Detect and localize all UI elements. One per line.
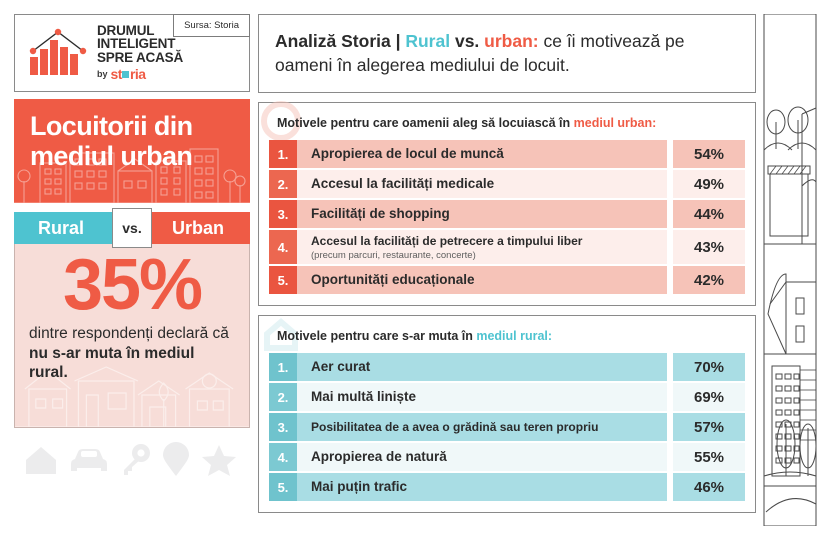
row-label-cell: Accesul la facilități medicale <box>297 170 667 198</box>
stat-value: 35% <box>15 244 249 322</box>
header-part1: Analiză Storia | <box>275 31 405 51</box>
row-percent: 42% <box>673 266 745 294</box>
row-percent: 70% <box>673 353 745 381</box>
row-label-cell: Oportunități educaționale <box>297 266 667 294</box>
row-label: Accesul la facilități de petrecere a tim… <box>311 233 657 249</box>
compare-tabs: Rural Urban vs. <box>14 212 250 244</box>
row-number: 3. <box>269 200 297 228</box>
row-number: 3. <box>269 413 297 441</box>
row-percent: 55% <box>673 443 745 471</box>
logo-line-2: INTELIGENT <box>97 37 183 50</box>
row-percent: 57% <box>673 413 745 441</box>
row-number: 4. <box>269 443 297 471</box>
logo-by-label: by <box>97 69 108 79</box>
table-row[interactable]: 4. Accesul la facilități de petrecere a … <box>269 230 745 264</box>
main-column: Analiză Storia | Rural vs. urban: ce îi … <box>258 14 756 513</box>
table-row[interactable]: 5. Mai puțin trafic 46% <box>269 473 745 501</box>
rural-heading-plain: Motivele pentru care s-ar muta în <box>277 329 476 343</box>
header-urban: urban: <box>484 31 538 51</box>
row-label-cell: Mai multă liniște <box>297 383 667 411</box>
urban-section-heading: Motivele pentru care oamenii aleg să loc… <box>269 114 745 140</box>
row-label-cell: Apropierea de locul de muncă <box>297 140 667 168</box>
row-number: 1. <box>269 353 297 381</box>
urban-heading-accent: mediul urban: <box>574 116 657 130</box>
rural-reasons-panel: Motivele pentru care s-ar muta în mediul… <box>258 315 756 513</box>
row-label: Posibilitatea de a avea o grădină sau te… <box>311 419 657 435</box>
star-icon <box>200 442 238 478</box>
rural-rows: 1. Aer curat 70% 2. Mai multă liniște 69… <box>269 353 745 501</box>
table-row[interactable]: 5. Oportunități educaționale 42% <box>269 266 745 294</box>
row-label-cell: Aer curat <box>297 353 667 381</box>
row-sublabel: (precum parcuri, restaurante, concerte) <box>311 250 657 262</box>
row-label-cell: Apropierea de natură <box>297 443 667 471</box>
table-row[interactable]: 1. Aer curat 70% <box>269 353 745 381</box>
table-row[interactable]: 1. Apropierea de locul de muncă 54% <box>269 140 745 168</box>
row-number: 2. <box>269 170 297 198</box>
row-label-cell: Mai puțin trafic <box>297 473 667 501</box>
header-panel: Analiză Storia | Rural vs. urban: ce îi … <box>258 14 756 93</box>
logo-line-3: SPRE ACASĂ <box>97 51 183 64</box>
header-text: Analiză Storia | Rural vs. urban: ce îi … <box>275 29 739 77</box>
source-badge: Sursa: Storia <box>173 14 250 37</box>
car-icon <box>67 442 111 478</box>
urban-rows: 1. Apropierea de locul de muncă 54% 2. A… <box>269 140 745 294</box>
row-label: Mai multă liniște <box>311 389 657 405</box>
row-percent: 69% <box>673 383 745 411</box>
row-number: 4. <box>269 230 297 264</box>
pin-icon <box>159 442 193 478</box>
logo-box: DRUMUL INTELIGENT SPRE ACASĂ by stria Su… <box>14 14 250 92</box>
row-label-cell: Facilități de shopping <box>297 200 667 228</box>
key-icon <box>118 442 152 478</box>
table-row[interactable]: 3. Posibilitatea de a avea o grădină sau… <box>269 413 745 441</box>
house-icon <box>22 442 60 478</box>
rural-section-heading: Motivele pentru care s-ar muta în mediul… <box>269 327 745 353</box>
row-label-cell: Accesul la facilități de petrecere a tim… <box>297 230 667 264</box>
row-percent: 46% <box>673 473 745 501</box>
table-row[interactable]: 3. Facilități de shopping 44% <box>269 200 745 228</box>
logo-byline: by stria <box>97 66 183 82</box>
row-label: Apropierea de locul de muncă <box>311 146 657 162</box>
urban-title-banner: Locuitorii din mediul urban <box>14 99 250 203</box>
header-mid: vs. <box>450 31 484 51</box>
stat-description: dintre respondenți declară că nu s-ar mu… <box>15 322 249 383</box>
stat-line-2-bold: nu s-ar <box>29 345 81 362</box>
row-percent: 43% <box>673 230 745 264</box>
row-number: 2. <box>269 383 297 411</box>
header-rural: Rural <box>405 31 450 51</box>
infographic-page: DRUMUL INTELIGENT SPRE ACASĂ by stria Su… <box>0 0 831 540</box>
feature-icon-row <box>14 428 250 478</box>
stat-highlight-box: 35% dintre respondenți declară că nu s-a… <box>14 244 250 428</box>
row-percent: 54% <box>673 140 745 168</box>
row-label: Facilități de shopping <box>311 206 657 222</box>
row-number: 5. <box>269 473 297 501</box>
storia-square-icon <box>122 71 129 78</box>
row-number: 1. <box>269 140 297 168</box>
rural-heading-accent: mediul rural: <box>476 329 552 343</box>
left-column: DRUMUL INTELIGENT SPRE ACASĂ by stria Su… <box>14 14 250 478</box>
row-label: Aer curat <box>311 359 657 375</box>
table-row[interactable]: 2. Mai multă liniște 69% <box>269 383 745 411</box>
row-percent: 49% <box>673 170 745 198</box>
row-label: Accesul la facilități medicale <box>311 176 657 192</box>
vs-badge: vs. <box>112 208 152 248</box>
row-label: Oportunități educaționale <box>311 272 657 288</box>
right-edge-city-illustration <box>762 14 817 526</box>
logo-wordmark: DRUMUL INTELIGENT SPRE ACASĂ by stria <box>97 24 183 82</box>
row-percent: 44% <box>673 200 745 228</box>
table-row[interactable]: 4. Apropierea de natură 55% <box>269 443 745 471</box>
rural-urban-compare: Rural Urban vs. <box>14 212 250 428</box>
row-number: 5. <box>269 266 297 294</box>
stat-line-1: dintre respondenți <box>29 325 153 342</box>
row-label-cell: Posibilitatea de a avea o grădină sau te… <box>297 413 667 441</box>
urban-reasons-panel: Motivele pentru care oamenii aleg să loc… <box>258 102 756 306</box>
stat-line-2-plain: declară că <box>157 325 229 342</box>
table-row[interactable]: 2. Accesul la facilități medicale 49% <box>269 170 745 198</box>
page-title: Locuitorii din mediul urban <box>14 99 250 171</box>
row-label: Apropierea de natură <box>311 449 657 465</box>
row-label: Mai puțin trafic <box>311 479 657 495</box>
drumul-inteligent-logo-icon <box>27 27 89 79</box>
storia-brand: stria <box>111 66 146 82</box>
urban-heading-plain: Motivele pentru care oamenii aleg să loc… <box>277 116 574 130</box>
